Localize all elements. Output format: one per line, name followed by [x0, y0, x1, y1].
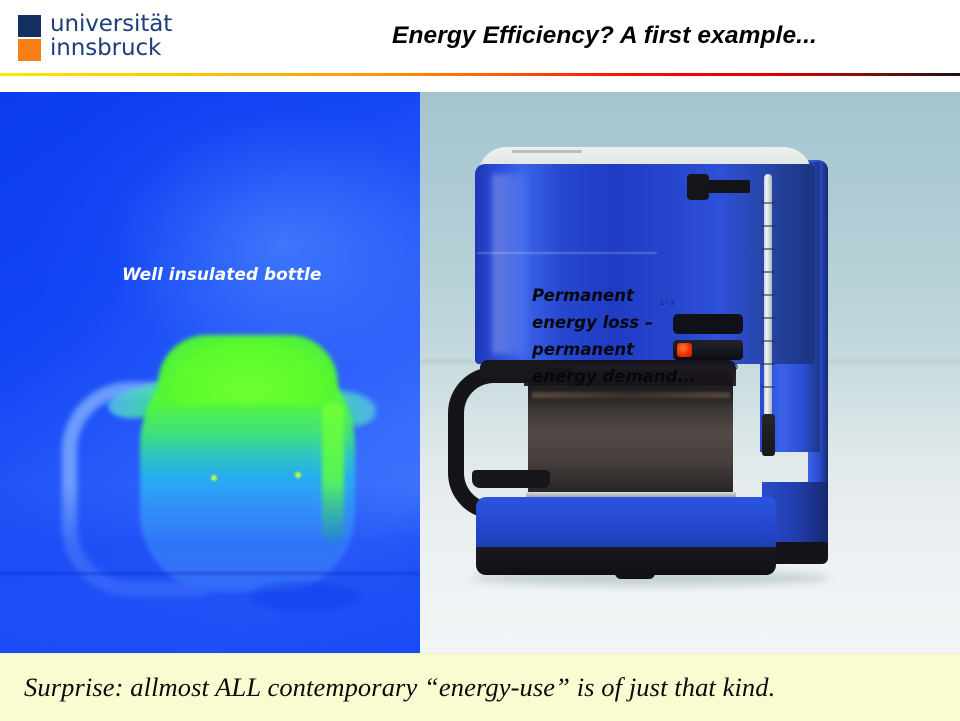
- gauge-tick: [761, 340, 775, 342]
- footer-caption-text: Surprise: allmost ALL contemporary “ener…: [24, 672, 775, 703]
- logo-navy-square-icon: [18, 15, 41, 37]
- annotation-well-insulated-bottle: Well insulated bottle: [122, 265, 321, 285]
- gauge-tick: [761, 386, 775, 388]
- slide-header: universität innsbruck Energy Efficiency?…: [0, 0, 960, 92]
- logo-wordmark: universität innsbruck: [50, 13, 172, 60]
- thermal-floor-gradient: [0, 483, 420, 653]
- page-title: Energy Efficiency? A first example...: [392, 22, 817, 50]
- gauge-tick: [761, 271, 775, 273]
- machine-lid-grip-bar: [708, 180, 750, 193]
- footer-caption-bar: Surprise: allmost ALL contemporary “ener…: [0, 653, 960, 721]
- slide-root: universität innsbruck Energy Efficiency?…: [0, 0, 960, 720]
- thermal-floor-edge-line: [0, 572, 420, 575]
- gauge-tick: [761, 294, 775, 296]
- machine-gauge-base: [762, 414, 775, 456]
- logo-line-innsbruck: innsbruck: [50, 37, 172, 61]
- thermal-hotspot-dot: [295, 472, 301, 478]
- logo-squares: [18, 15, 41, 61]
- machine-body-seam: [477, 252, 657, 254]
- comparison-image-strip: Well insulated bottle passive: [0, 92, 960, 653]
- machine-body-highlight: [492, 174, 530, 354]
- gauge-tick: [761, 363, 775, 365]
- thermos-cap-shape: [158, 335, 338, 405]
- machine-lid-slit: [512, 150, 582, 153]
- annotation-permanent-energy-loss: Permanent energy loss – permanent energy…: [532, 282, 696, 390]
- machine-base-foot: [615, 571, 655, 579]
- machine-lid-grip[interactable]: [687, 174, 709, 200]
- gauge-tick: [761, 202, 775, 204]
- gauge-tick: [761, 225, 775, 227]
- header-gradient-rule: [0, 73, 960, 76]
- gauge-tick: [761, 317, 775, 319]
- carafe-handle-bottom: [472, 470, 550, 488]
- logo-line-university: universität: [50, 13, 172, 37]
- thermal-hotspot-dot: [211, 475, 217, 481]
- logo-orange-square-icon: [18, 39, 41, 61]
- gauge-tick: [761, 248, 775, 250]
- university-logo: universität innsbruck: [18, 13, 172, 61]
- panel-passive-thermal-image: [0, 92, 420, 653]
